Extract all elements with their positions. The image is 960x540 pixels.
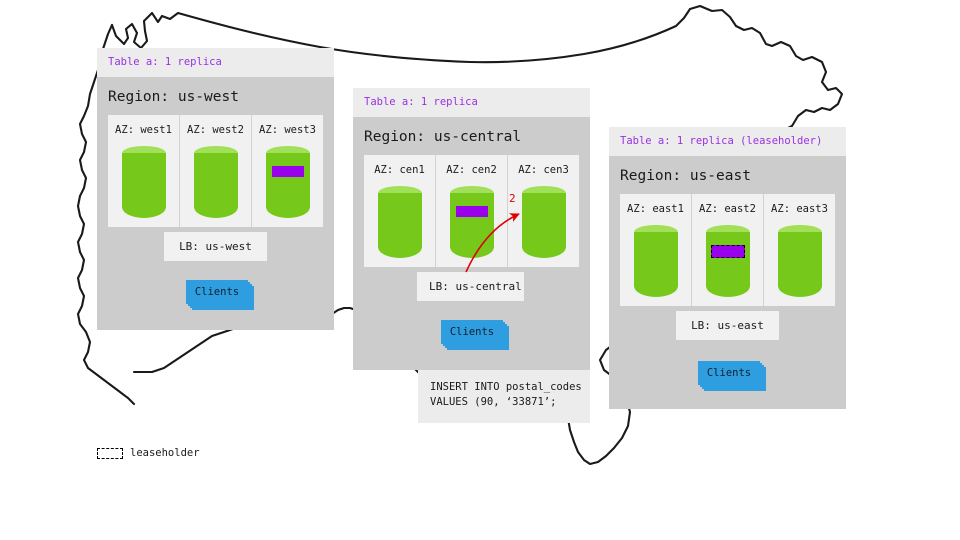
cylinder-body-icon	[706, 232, 750, 297]
clients-button-us-east[interactable]: Clients	[698, 361, 760, 385]
az-cell-east2[interactable]: AZ: east2	[692, 194, 764, 306]
az-cell-cen1[interactable]: AZ: cen1	[364, 155, 436, 267]
az-label-west3: AZ: west3	[259, 115, 316, 146]
az-cell-east3[interactable]: AZ: east3	[764, 194, 835, 306]
az-label-west2: AZ: west2	[187, 115, 244, 146]
legend: leaseholder	[97, 448, 200, 459]
table-replica-banner-us-east: Table a: 1 replica (leaseholder)	[609, 127, 846, 156]
az-cell-west1[interactable]: AZ: west1	[108, 115, 180, 227]
cylinder-body-icon	[522, 193, 566, 258]
az-cell-cen2[interactable]: AZ: cen2	[436, 155, 508, 267]
clients-button-label: Clients	[698, 361, 760, 385]
az-cell-east1[interactable]: AZ: east1	[620, 194, 692, 306]
node-cylinder-west1[interactable]	[122, 146, 166, 218]
az-strip-us-central: AZ: cen1 AZ: cen2 AZ: cen3	[364, 155, 579, 267]
load-balancer-us-central[interactable]: LB: us-central	[417, 272, 524, 301]
node-cylinder-east3[interactable]	[778, 225, 822, 297]
clients-button-label: Clients	[186, 280, 248, 304]
cylinder-body-icon	[450, 193, 494, 258]
sql-statement-box: INSERT INTO postal_codes VALUES (90, ‘33…	[418, 370, 590, 423]
diagram-canvas: Table a: 1 replica Region: us-west AZ: w…	[0, 0, 960, 540]
cylinder-body-icon	[122, 153, 166, 218]
clients-button-us-central[interactable]: Clients	[441, 320, 503, 344]
cylinder-body-icon	[778, 232, 822, 297]
range-replica-marker-west3	[272, 166, 304, 177]
node-cylinder-west3[interactable]	[266, 146, 310, 218]
cylinder-body-icon	[378, 193, 422, 258]
az-strip-us-east: AZ: east1 AZ: east2 AZ: east3	[620, 194, 835, 306]
step-arrow-label: 2	[509, 193, 516, 204]
az-label-cen2: AZ: cen2	[446, 155, 497, 186]
node-cylinder-east2[interactable]	[706, 225, 750, 297]
node-cylinder-cen3[interactable]	[522, 186, 566, 258]
az-label-cen3: AZ: cen3	[518, 155, 569, 186]
az-cell-west3[interactable]: AZ: west3	[252, 115, 323, 227]
az-label-cen1: AZ: cen1	[374, 155, 425, 186]
load-balancer-us-east[interactable]: LB: us-east	[676, 311, 779, 340]
node-cylinder-west2[interactable]	[194, 146, 238, 218]
legend-label: leaseholder	[130, 448, 200, 459]
az-label-east1: AZ: east1	[627, 194, 684, 225]
region-title-us-east: Region: us-east	[609, 156, 846, 195]
clients-button-label: Clients	[441, 320, 503, 344]
region-title-us-central: Region: us-central	[353, 117, 590, 156]
load-balancer-us-west[interactable]: LB: us-west	[164, 232, 267, 261]
az-label-east3: AZ: east3	[771, 194, 828, 225]
clients-button-us-west[interactable]: Clients	[186, 280, 248, 304]
az-label-east2: AZ: east2	[699, 194, 756, 225]
node-cylinder-cen1[interactable]	[378, 186, 422, 258]
az-label-west1: AZ: west1	[115, 115, 172, 146]
table-replica-banner-us-central: Table a: 1 replica	[353, 88, 590, 117]
az-strip-us-west: AZ: west1 AZ: west2 AZ: west3	[108, 115, 323, 227]
node-cylinder-cen2[interactable]	[450, 186, 494, 258]
node-cylinder-east1[interactable]	[634, 225, 678, 297]
cylinder-body-icon	[266, 153, 310, 218]
table-replica-banner-us-west: Table a: 1 replica	[97, 48, 334, 77]
leaseholder-swatch-icon	[97, 448, 123, 459]
cylinder-body-icon	[634, 232, 678, 297]
az-cell-cen3[interactable]: AZ: cen3	[508, 155, 579, 267]
cylinder-body-icon	[194, 153, 238, 218]
range-replica-marker-cen2	[456, 206, 488, 217]
range-leaseholder-marker-east2	[711, 245, 745, 258]
az-cell-west2[interactable]: AZ: west2	[180, 115, 252, 227]
region-title-us-west: Region: us-west	[97, 77, 334, 116]
